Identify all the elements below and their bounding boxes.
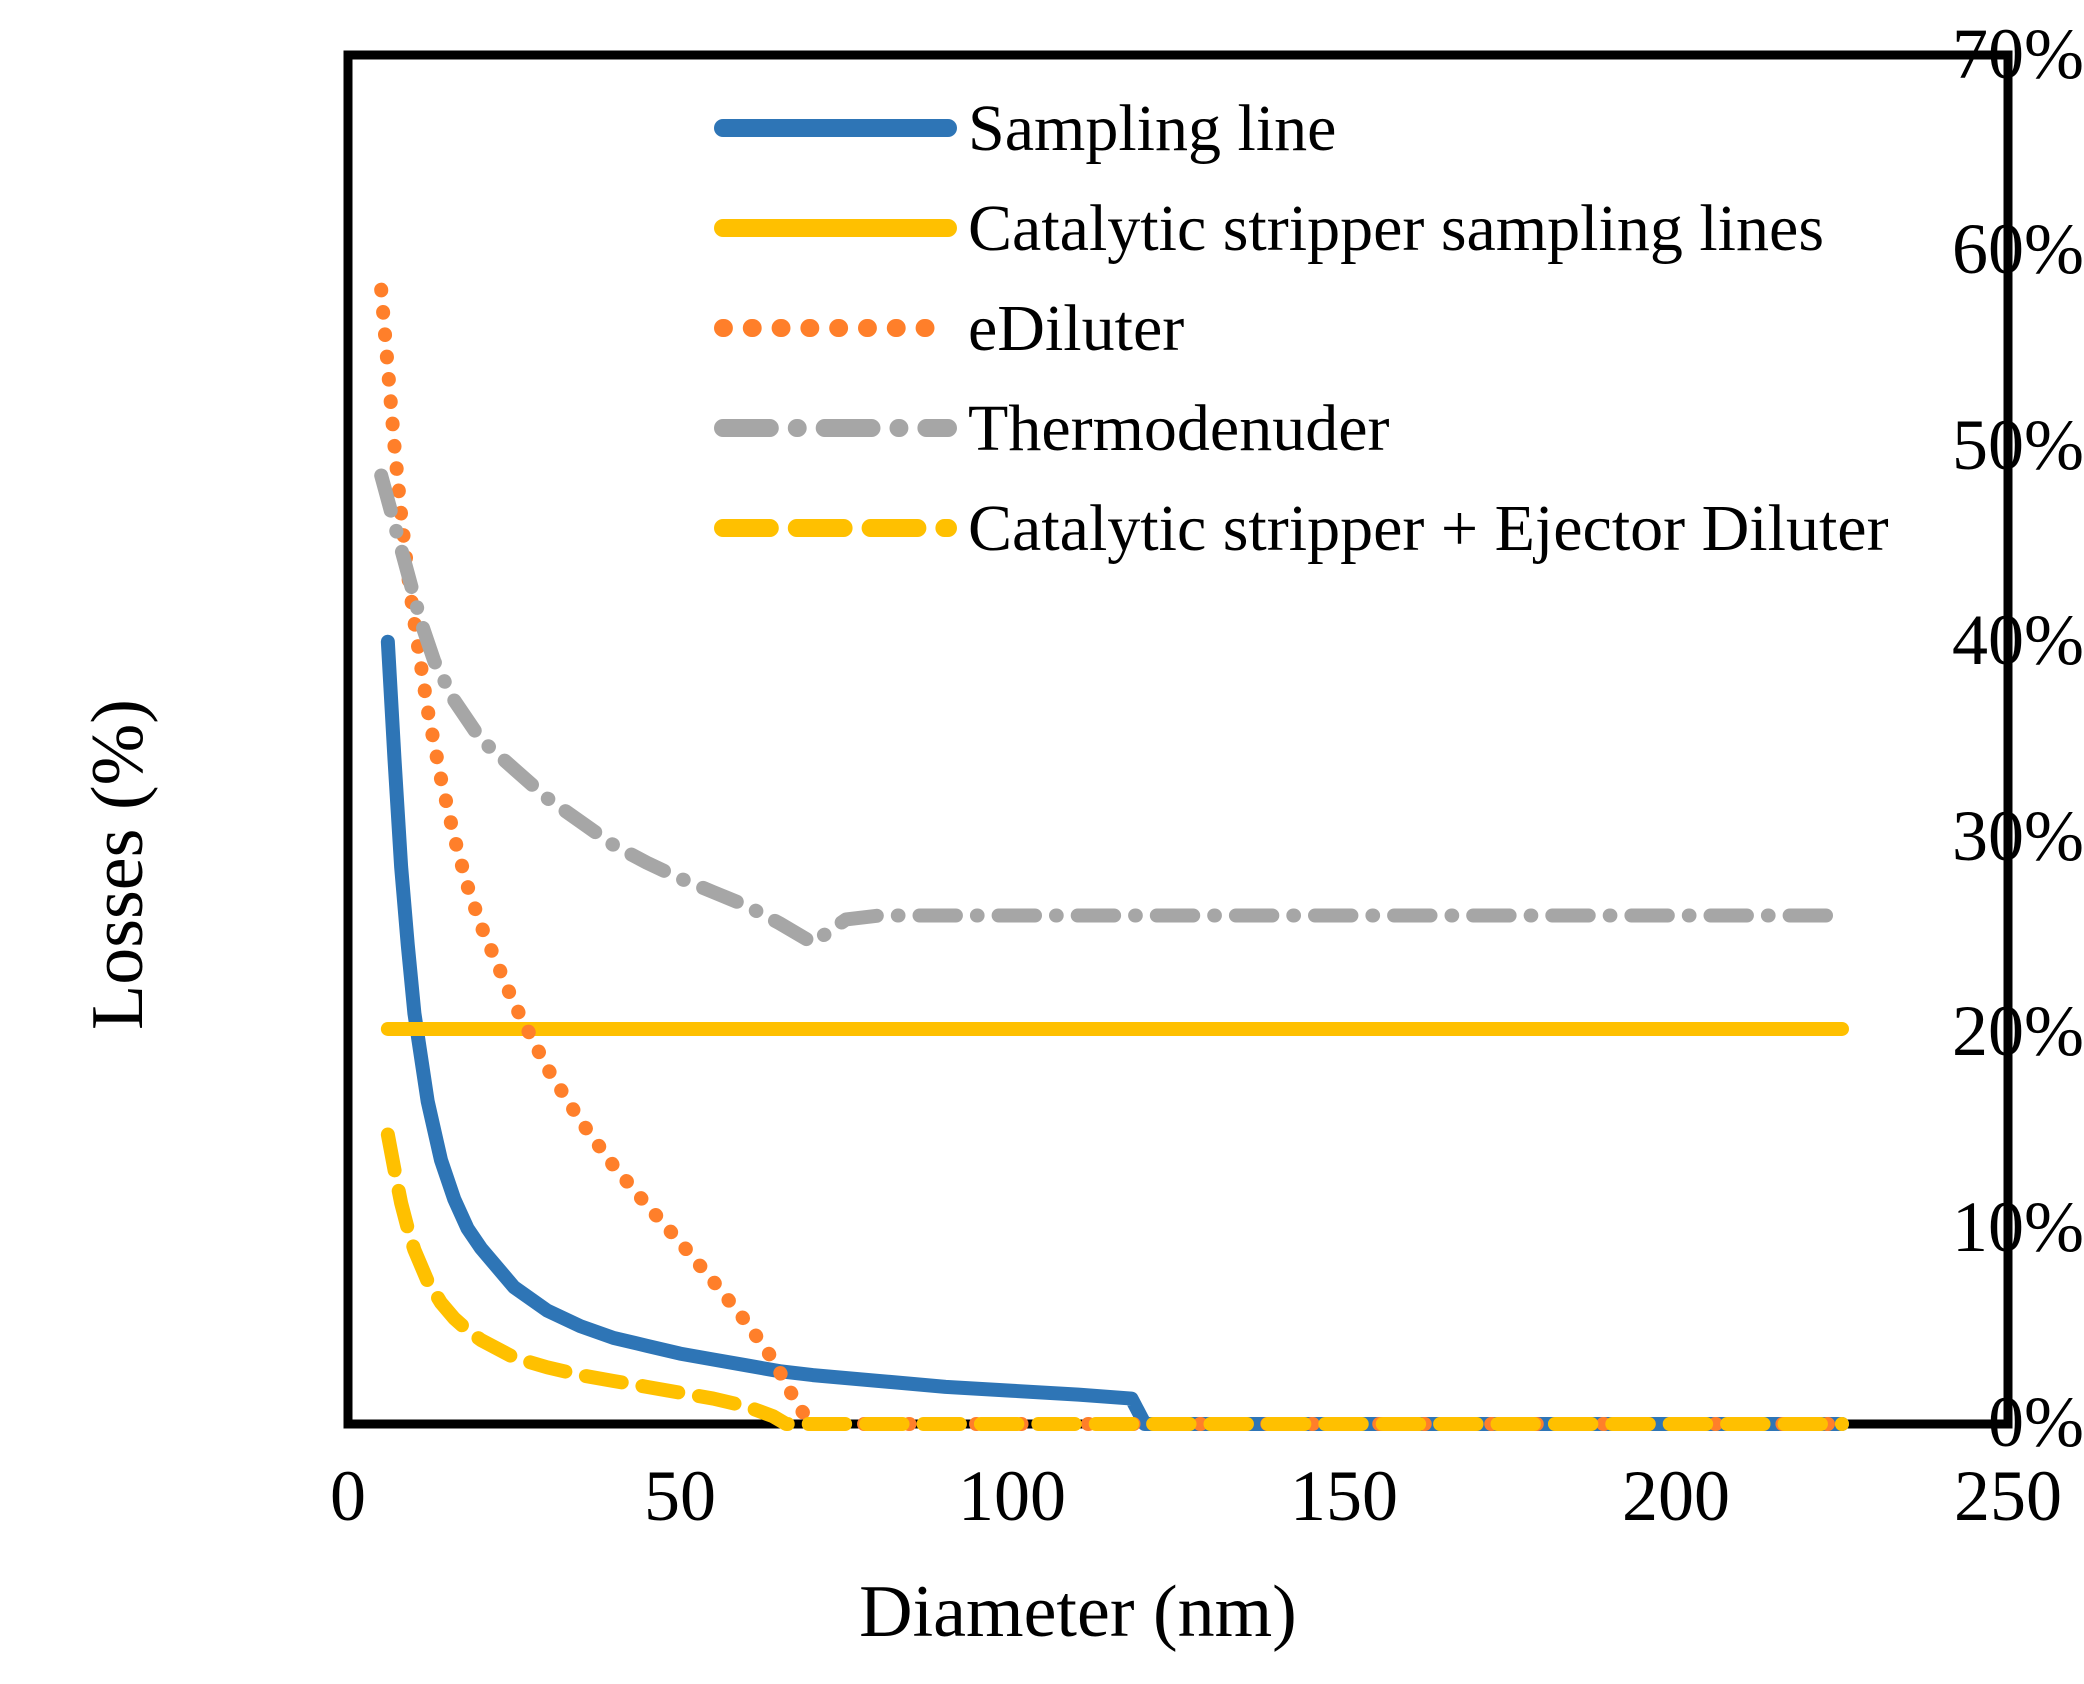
plot-canvas bbox=[0, 0, 2084, 1684]
series-line-catalytic-stripper-ejector-diluter bbox=[388, 1135, 1842, 1424]
series-layer bbox=[381, 290, 1842, 1424]
series-line-ediluter bbox=[381, 290, 1842, 1424]
legend-markers bbox=[723, 128, 948, 528]
chart-figure: 70% 60% 50% 40% 30% 20% 10% 0% 0 50 100 … bbox=[0, 0, 2084, 1684]
plot-frame bbox=[348, 55, 2008, 1424]
series-line-thermodenuder bbox=[381, 475, 1842, 942]
